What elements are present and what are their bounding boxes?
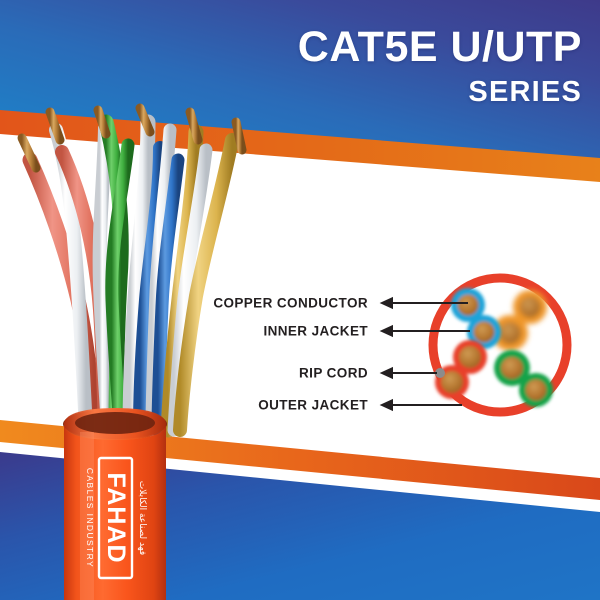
- callout-label-outer-jacket: OUTER JACKET: [258, 398, 368, 413]
- callout-label-group: COPPER CONDUCTOR INNER JACKET RIP CORD O…: [0, 0, 600, 600]
- poster-canvas: CAT5E U/UTP SERIES: [0, 0, 600, 600]
- callout-label-rip-cord: RIP CORD: [299, 366, 368, 381]
- callout-label-inner-jacket: INNER JACKET: [263, 324, 368, 339]
- callout-label-copper-conductor: COPPER CONDUCTOR: [213, 296, 368, 311]
